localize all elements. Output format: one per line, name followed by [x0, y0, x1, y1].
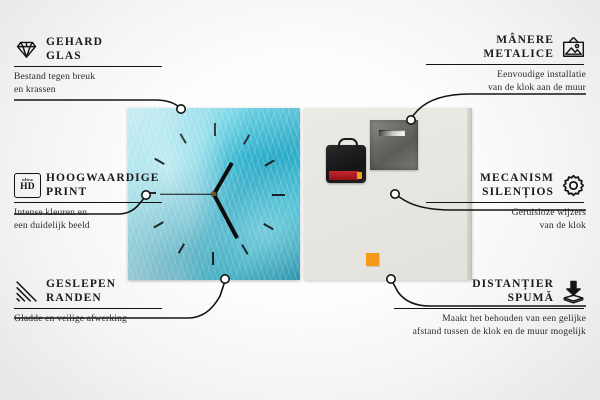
clock-tick	[203, 192, 214, 199]
connector-gehard-glas	[14, 100, 180, 108]
clock-tick	[212, 194, 214, 207]
gear-icon	[561, 173, 586, 198]
feature-heading: MÂNERE METALICE	[426, 34, 586, 61]
clock-hour-hand	[214, 161, 236, 196]
clock-mechanism	[326, 145, 366, 183]
feature-hoogwaardige-print[interactable]: ultra HD HOOGWAARDIGE PRINT Intense kleu…	[14, 172, 164, 232]
feature-title: HOOGWAARDIGE PRINT	[46, 172, 160, 199]
feature-heading: MECANISM SILENȚIOS	[426, 172, 586, 199]
spacer-arrow-icon	[561, 279, 586, 304]
feature-mecanism-silentios[interactable]: MECANISM SILENȚIOS Geruisloze wijzers va…	[426, 172, 586, 232]
clock-tick	[207, 193, 214, 204]
clock-tick	[214, 181, 216, 194]
feature-divider	[14, 202, 162, 203]
clock-minute-hand	[211, 194, 239, 242]
feature-heading: GEHARD GLAS	[14, 36, 164, 63]
feature-divider	[426, 64, 584, 65]
beveled-edges-icon	[14, 279, 39, 304]
clock-second-hand	[156, 193, 214, 194]
clock-tick	[214, 194, 227, 196]
ultra-hd-icon: ultra HD	[14, 173, 39, 198]
picture-hanger-icon	[561, 35, 586, 60]
feature-description: Bestand tegen breuk en krassen	[14, 71, 164, 95]
feature-title: DISTANȚIER SPUMĂ	[472, 278, 554, 305]
infographic-canvas: GEHARD GLAS Bestand tegen breuk en krass…	[0, 0, 600, 400]
feature-divider	[426, 202, 584, 203]
feature-title: GESLEPEN RANDEN	[46, 278, 116, 305]
battery-terminal	[357, 172, 362, 179]
feature-description: Maakt het behouden van een gelijke afsta…	[394, 313, 586, 337]
feature-divider	[14, 308, 162, 309]
feature-heading: GESLEPEN RANDEN	[14, 278, 164, 305]
metal-hanger-plate	[370, 120, 418, 170]
feature-heading: ultra HD HOOGWAARDIGE PRINT	[14, 172, 164, 199]
feature-manere-metalice[interactable]: MÂNERE METALICE Eenvoudige installatie v…	[426, 34, 586, 94]
mechanism-hook	[338, 138, 358, 149]
feature-heading: DISTANȚIER SPUMĂ	[394, 278, 586, 305]
feature-description: Gladde en veilige afwerking	[14, 313, 164, 325]
clock-tick	[212, 194, 219, 205]
feature-title: MÂNERE METALICE	[483, 34, 554, 61]
foam-spacer	[366, 253, 379, 266]
feature-title: MECANISM SILENȚIOS	[480, 172, 554, 199]
feature-divider	[14, 66, 162, 67]
clock-center-pin	[212, 192, 217, 197]
clock-tick	[209, 183, 216, 194]
clock-tick	[214, 184, 221, 195]
battery	[329, 171, 359, 180]
feature-gehard-glas[interactable]: GEHARD GLAS Bestand tegen breuk en krass…	[14, 36, 164, 96]
product-image	[128, 108, 472, 280]
feature-description: Eenvoudige installatie van de klok aan d…	[426, 69, 586, 93]
clock-tick	[204, 187, 215, 194]
diamond-icon	[14, 37, 39, 62]
clock-tick	[214, 189, 225, 196]
hanger-slot	[379, 130, 405, 136]
feature-description: Geruisloze wijzers van de klok	[426, 207, 586, 231]
feature-geslepen-randen[interactable]: GESLEPEN RANDEN Gladde en veilige afwerk…	[14, 278, 164, 326]
feature-divider	[394, 308, 584, 309]
feature-title: GEHARD GLAS	[46, 36, 103, 63]
feature-description: Intense kleuren en een duidelijk beeld	[14, 207, 164, 231]
clock-tick	[201, 192, 214, 194]
clock-tick	[213, 194, 224, 201]
feature-distantier-spuma[interactable]: DISTANȚIER SPUMĂ Maakt het behouden van …	[394, 278, 586, 338]
